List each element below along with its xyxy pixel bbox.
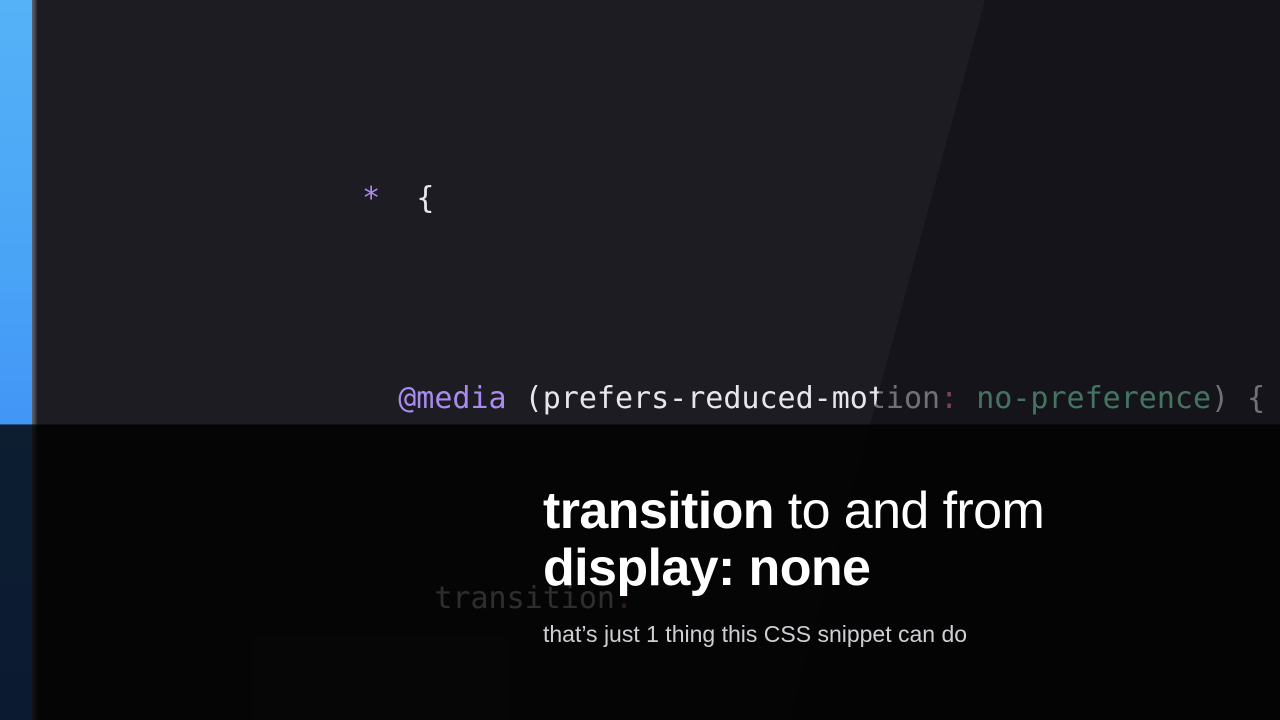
subheadline: that’s just 1 thing this CSS snippet can… bbox=[543, 597, 1243, 648]
code-token-brace: { bbox=[416, 181, 434, 216]
code-line: @media (prefers-reduced-motion: no-prefe… bbox=[37, 324, 1280, 374]
headline-emphasis-transition: transition bbox=[543, 482, 774, 540]
caption-block: transition to and fromdisplay: none that… bbox=[543, 483, 1243, 648]
headline-emphasis-display-none: display: none bbox=[543, 539, 870, 597]
code-line: * { bbox=[37, 124, 1280, 174]
slide-canvas: * { @media (prefers-reduced-motion: no-p… bbox=[0, 0, 1280, 720]
code-token-media-value: no-preference bbox=[958, 381, 1211, 416]
code-token-at-media: @media bbox=[398, 381, 506, 416]
code-token-colon: : bbox=[940, 381, 958, 416]
headline: transition to and fromdisplay: none bbox=[543, 483, 1243, 597]
code-token-paren: ) bbox=[1211, 381, 1229, 416]
code-token-media-query: (prefers-reduced-motion bbox=[507, 381, 940, 416]
accent-bar bbox=[0, 0, 32, 720]
accent-divider bbox=[32, 0, 37, 720]
code-token-brace: { bbox=[1229, 381, 1265, 416]
headline-regular: to and from bbox=[774, 482, 1044, 540]
code-token-selector: * bbox=[362, 181, 380, 216]
